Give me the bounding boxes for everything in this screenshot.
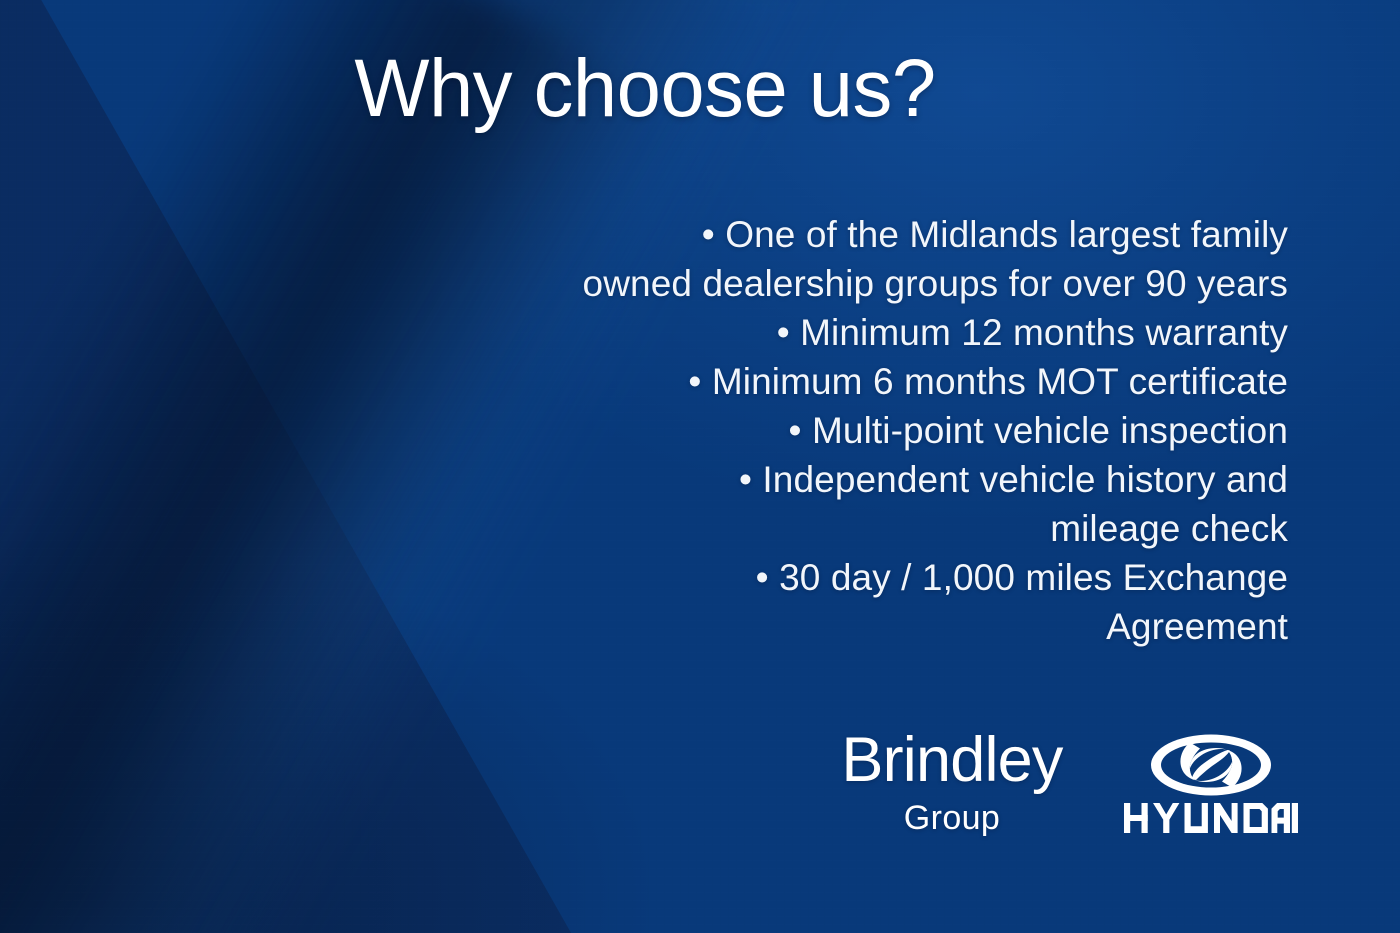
benefit-line: • Independent vehicle history and (300, 455, 1288, 504)
hyundai-wordmark-icon (1124, 803, 1298, 833)
benefit-line: • 30 day / 1,000 miles Exchange (300, 553, 1288, 602)
page-title: Why choose us? (19, 48, 1270, 130)
logo-row: Brindley Group (800, 725, 1320, 865)
benefit-line: Agreement (300, 602, 1288, 651)
brindley-group-logo: Brindley Group (818, 725, 1086, 837)
content-layer: Why choose us? • One of the Midlands lar… (0, 0, 1400, 933)
benefit-line: • Multi-point vehicle inspection (300, 406, 1288, 455)
hyundai-emblem-icon (1149, 733, 1273, 797)
brindley-group-subtext: Group (818, 799, 1086, 837)
promo-banner: Why choose us? • One of the Midlands lar… (0, 0, 1400, 933)
benefits-list: • One of the Midlands largest family own… (300, 210, 1288, 651)
benefit-line: mileage check (300, 504, 1288, 553)
benefit-line: • One of the Midlands largest family (300, 210, 1288, 259)
benefit-line: • Minimum 6 months MOT certificate (300, 357, 1288, 406)
benefit-line: • Minimum 12 months warranty (300, 308, 1288, 357)
hyundai-logo (1118, 733, 1304, 833)
brindley-wordmark: Brindley (818, 725, 1086, 795)
benefit-line: owned dealership groups for over 90 year… (300, 259, 1288, 308)
